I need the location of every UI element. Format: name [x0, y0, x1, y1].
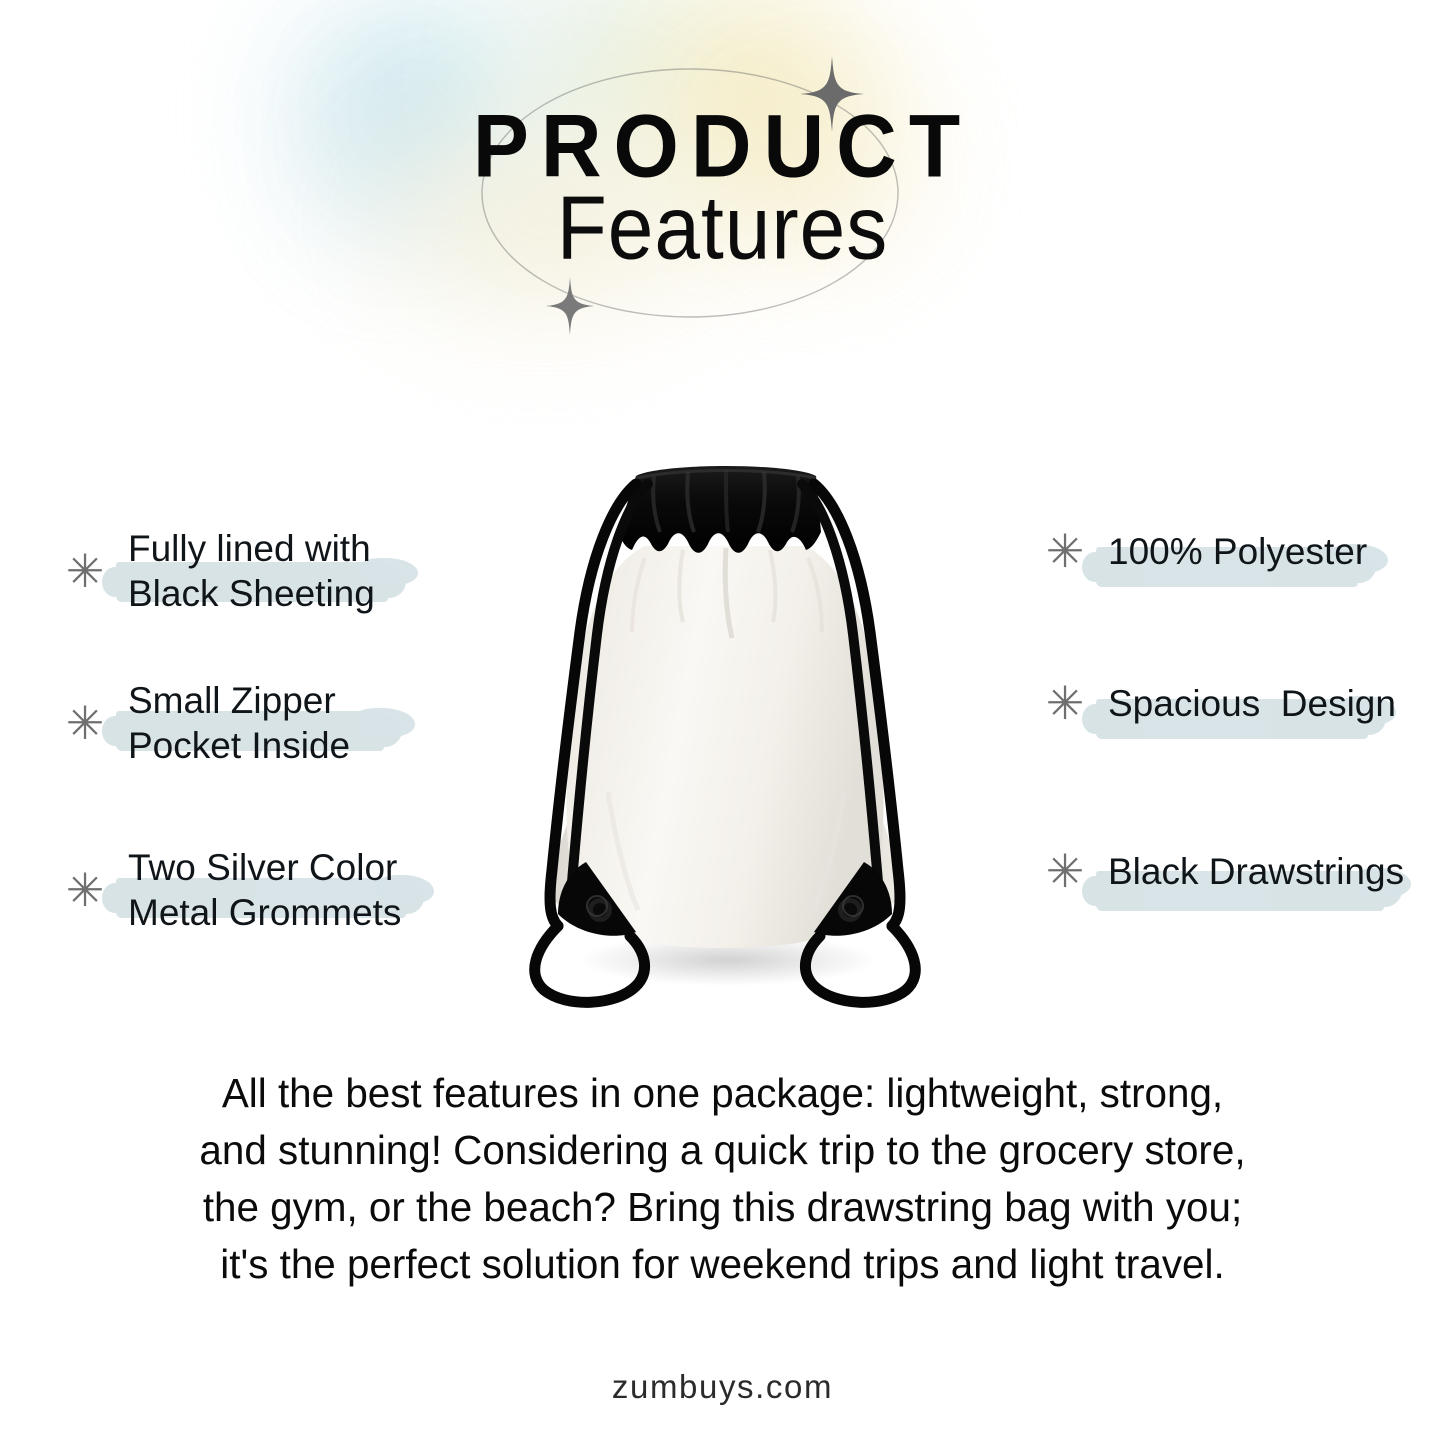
description-line-4: it's the perfect solution for weekend tr…: [104, 1236, 1340, 1293]
feature-text-left-2: Small Zipper Pocket Inside: [108, 678, 350, 768]
description-paragraph: All the best features in one package: li…: [104, 1065, 1340, 1293]
asterisk-icon: ✳: [62, 700, 108, 746]
feature-item-right-3[interactable]: ✳ Black Drawstrings: [1042, 848, 1404, 894]
page-title-secondary: Features: [0, 184, 1445, 274]
description-line-1: All the best features in one package: li…: [104, 1065, 1340, 1122]
feature-text-left-1: Fully lined with Black Sheeting: [108, 526, 375, 616]
feature-line-1: 100% Polyester: [1108, 529, 1367, 574]
feature-line-2: Black Sheeting: [128, 571, 375, 616]
footer-website[interactable]: zumbuys.com: [0, 1368, 1445, 1406]
sparkle-star-icon-small: [546, 277, 594, 335]
feature-item-left-3[interactable]: ✳ Two Silver Color Metal Grommets: [62, 845, 401, 935]
page-title-primary: PRODUCT: [0, 101, 1445, 190]
header-area: PRODUCT Features: [0, 0, 1445, 380]
asterisk-icon: ✳: [62, 867, 108, 913]
feature-item-right-2[interactable]: ✳ Spacious Design: [1042, 680, 1396, 726]
feature-line-1: Small Zipper: [128, 678, 350, 723]
bag-drawstring-top: [618, 466, 821, 553]
feature-line-2: Metal Grommets: [128, 890, 401, 935]
feature-line-1: Spacious Design: [1108, 681, 1396, 726]
feature-text-right-3: Black Drawstrings: [1088, 849, 1404, 894]
description-line-2: and stunning! Considering a quick trip t…: [104, 1122, 1340, 1179]
product-image-drawstring-bag: [440, 462, 1010, 1022]
feature-line-1: Black Drawstrings: [1108, 849, 1404, 894]
infographic-canvas: PRODUCT Features ✳ Fully lined with Blac…: [0, 0, 1445, 1445]
feature-text-right-2: Spacious Design: [1088, 681, 1396, 726]
asterisk-icon: ✳: [1042, 848, 1088, 894]
feature-line-1: Two Silver Color: [128, 845, 401, 890]
feature-line-2: Pocket Inside: [128, 723, 350, 768]
feature-line-1: Fully lined with: [128, 526, 375, 571]
feature-item-left-2[interactable]: ✳ Small Zipper Pocket Inside: [62, 678, 350, 768]
feature-item-left-1[interactable]: ✳ Fully lined with Black Sheeting: [62, 526, 375, 616]
asterisk-icon: ✳: [62, 548, 108, 594]
feature-text-right-1: 100% Polyester: [1088, 529, 1367, 574]
feature-item-right-1[interactable]: ✳ 100% Polyester: [1042, 528, 1367, 574]
description-line-3: the gym, or the beach? Bring this drawst…: [104, 1179, 1340, 1236]
feature-text-left-3: Two Silver Color Metal Grommets: [108, 845, 401, 935]
